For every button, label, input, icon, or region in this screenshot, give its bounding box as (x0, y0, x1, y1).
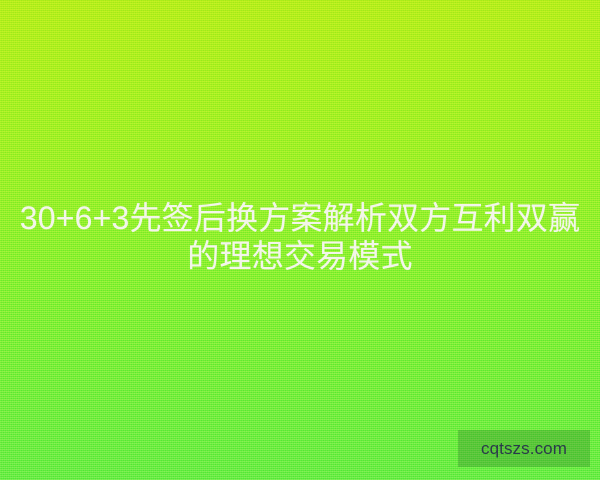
watermark-badge: cqtszs.com (458, 430, 590, 467)
headline-text: 30+6+3先签后换方案解析双方互利双赢 的理想交易模式 (0, 199, 600, 275)
banner-image: 30+6+3先签后换方案解析双方互利双赢 的理想交易模式 cqtszs.com (0, 0, 600, 480)
watermark-label: cqtszs.com (481, 440, 567, 457)
